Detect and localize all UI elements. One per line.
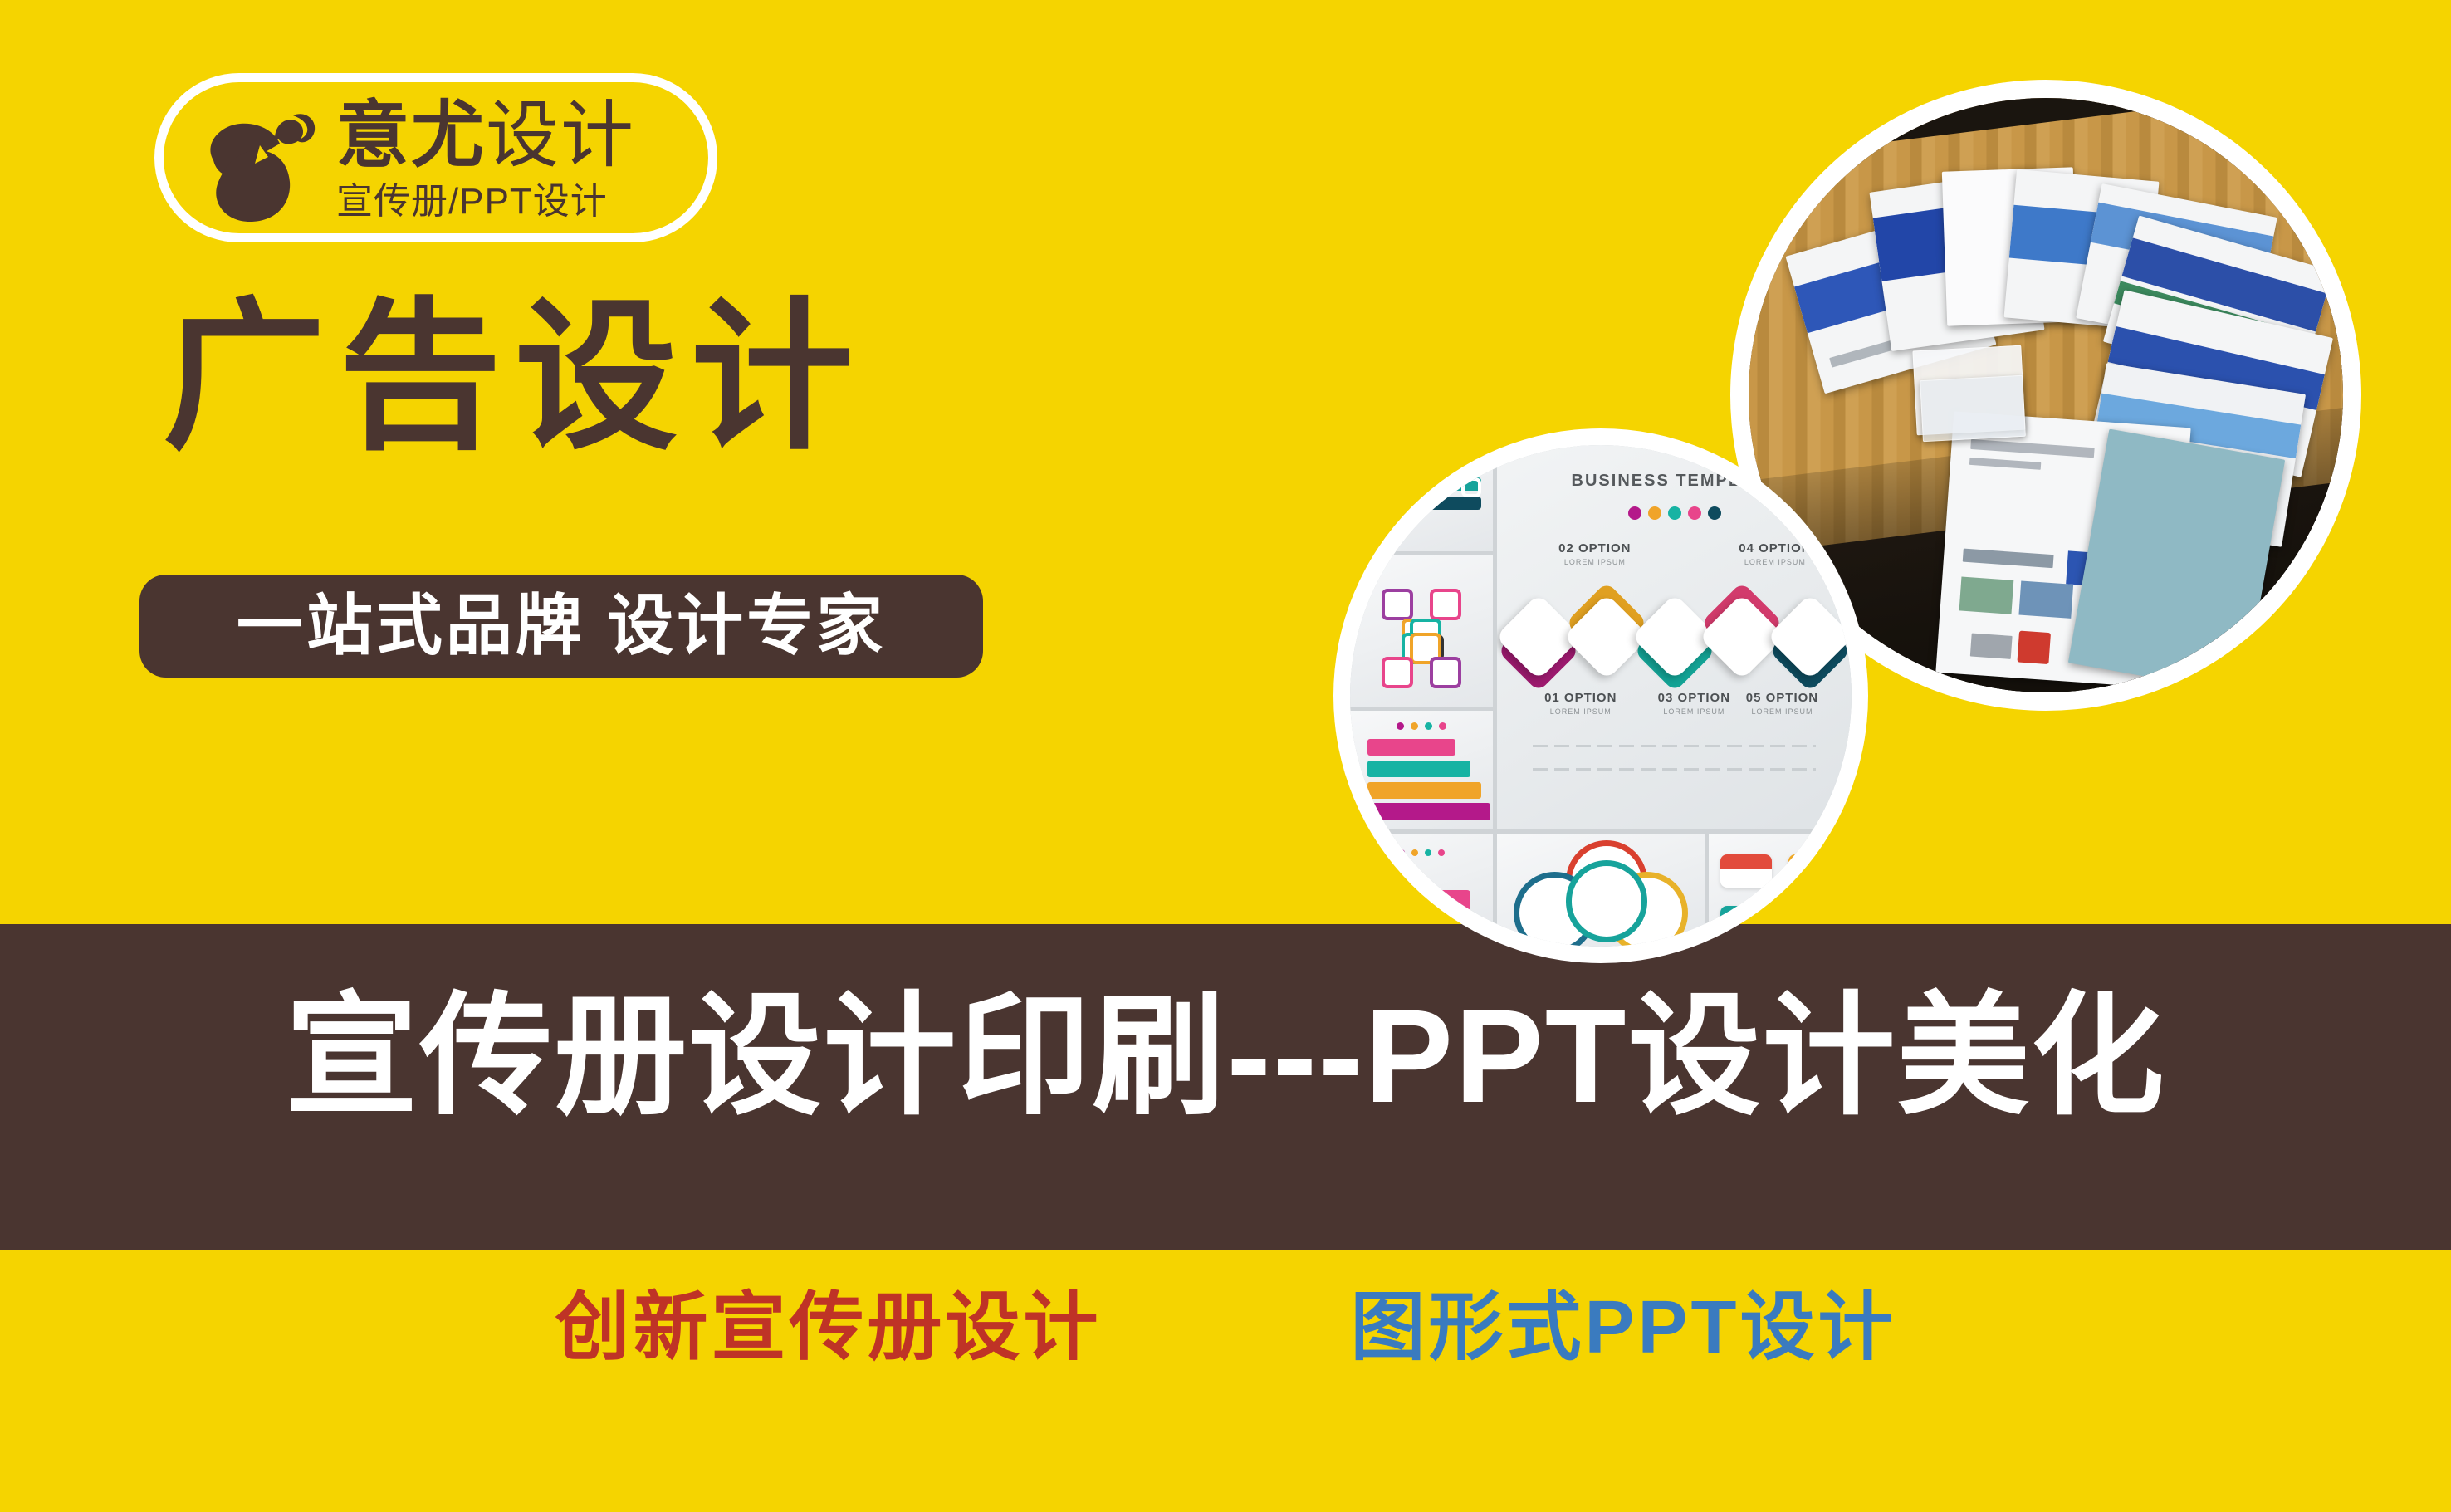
footer: 创新宣传册设计 图形式PPT设计 — [0, 1289, 2451, 1368]
diamond-row — [1508, 606, 1841, 668]
option-04-label: 04 OPTION LOREM IPSUM — [1713, 541, 1837, 566]
ppt-infographic-collage: BUSINESS TEMPLATE 02 OPTION LOREM IPSUM … — [1333, 428, 1868, 963]
promo-banner: 意尤设计 宣传册/PPT设计 广告设计 一站式品牌 设计专家 BUSINESS … — [0, 0, 2451, 1512]
logo-text: 意尤设计 宣传册/PPT设计 — [336, 89, 710, 243]
tagline-text: 一站式品牌 设计专家 — [237, 593, 886, 659]
banner-ribbons-slide — [1350, 445, 1493, 551]
slide-title: BUSINESS TEMPLATE — [1497, 472, 1852, 491]
slide-dots — [1497, 506, 1852, 520]
hex-cycle-slide — [1497, 834, 1705, 947]
main-infographic-slide: BUSINESS TEMPLATE 02 OPTION LOREM IPSUM … — [1497, 445, 1852, 829]
option-05-label: 05 OPTION LOREM IPSUM — [1720, 691, 1844, 716]
diamond-05 — [1767, 594, 1852, 681]
footer-item-brochure: 创新宣传册设计 — [555, 1289, 1101, 1368]
tagline-badge: 一站式品牌 设计专家 — [139, 575, 983, 678]
banner-strip-text: 宣传册设计印刷---PPT设计美化 — [0, 986, 2451, 1126]
footer-item-ppt: 图形式PPT设计 — [1350, 1289, 1896, 1368]
cross-nodes-slide — [1350, 555, 1493, 706]
logo: 意尤设计 宣传册/PPT设计 — [154, 73, 717, 242]
four-step-cards-slide — [1709, 834, 1852, 947]
option-01-label: 01 OPTION LOREM IPSUM — [1519, 691, 1643, 716]
page-title: 广告设计 — [163, 292, 867, 463]
option-02-label: 02 OPTION LOREM IPSUM — [1533, 541, 1657, 566]
logo-name: 意尤设计 — [336, 99, 710, 172]
infographic-image: BUSINESS TEMPLATE 02 OPTION LOREM IPSUM … — [1350, 445, 1852, 947]
leaf-gourd-icon — [188, 95, 328, 235]
cone-layers-slide — [1350, 711, 1493, 829]
logo-subtitle: 宣传册/PPT设计 — [336, 183, 710, 220]
arrow-steps-slide — [1350, 834, 1493, 947]
